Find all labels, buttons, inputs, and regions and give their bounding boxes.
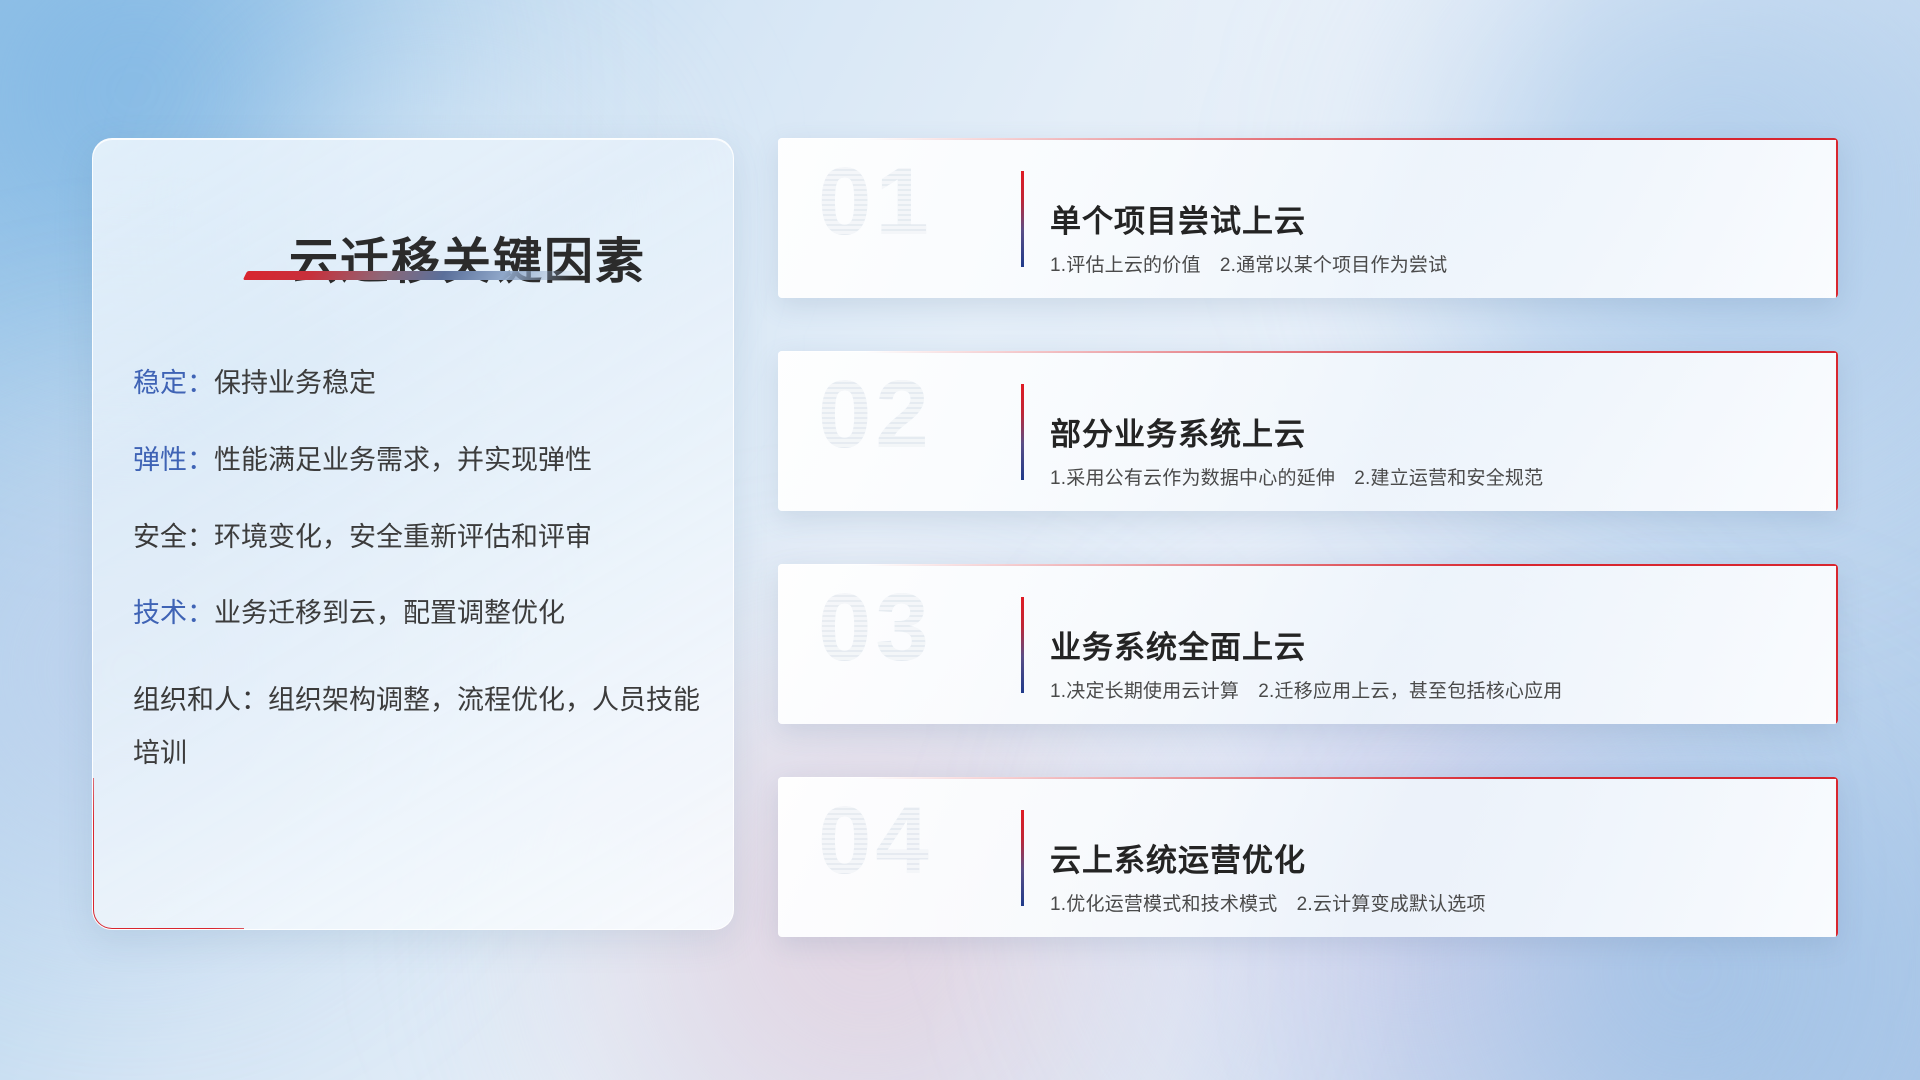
factor-value: 环境变化，安全重新评估和评审 bbox=[214, 522, 592, 552]
step-subtitle: 1.评估上云的价值 2.通常以某个项目作为尝试 bbox=[1050, 250, 1447, 277]
factor-value: 保持业务稳定 bbox=[214, 368, 376, 398]
factor-item: 技术：业务迁移到云，配置调整优化 bbox=[133, 597, 703, 631]
page-title: 云迁移关键因素 bbox=[289, 222, 646, 293]
key-factors-list: 稳定：保持业务稳定 弹性：性能满足业务需求，并实现弹性 安全：环境变化，安全重新… bbox=[133, 367, 703, 779]
factor-item: 弹性：性能满足业务需求，并实现弹性 bbox=[133, 444, 703, 478]
factor-label: 组织和人： bbox=[133, 685, 268, 715]
factor-item: 组织和人：组织架构调整，流程优化，人员技能培训 bbox=[133, 674, 703, 779]
factor-value: 性能满足业务需求，并实现弹性 bbox=[214, 445, 592, 475]
factor-label: 技术： bbox=[133, 598, 214, 628]
migration-steps-list: 01 01 单个项目尝试上云 1.评估上云的价值 2.通常以某个项目作为尝试 0… bbox=[778, 138, 1838, 937]
step-number: 02 bbox=[818, 367, 933, 463]
step-title: 业务系统全面上云 bbox=[1050, 622, 1306, 667]
factor-label: 安全： bbox=[133, 522, 214, 552]
key-factors-card: 云迁移关键因素 稳定：保持业务稳定 弹性：性能满足业务需求，并实现弹性 安全：环… bbox=[92, 138, 734, 930]
step-divider-bar bbox=[1021, 810, 1024, 906]
factor-label: 弹性： bbox=[133, 445, 214, 475]
step-subtitle: 1.采用公有云作为数据中心的延伸 2.建立运营和安全规范 bbox=[1050, 463, 1543, 490]
factor-item: 稳定：保持业务稳定 bbox=[133, 367, 703, 401]
step-title: 单个项目尝试上云 bbox=[1050, 196, 1306, 241]
factor-label: 稳定： bbox=[133, 368, 214, 398]
factor-item: 安全：环境变化，安全重新评估和评审 bbox=[133, 521, 703, 555]
step-subtitle: 1.优化运营模式和技术模式 2.云计算变成默认选项 bbox=[1050, 889, 1486, 916]
step-divider-bar bbox=[1021, 597, 1024, 693]
step-card-04[interactable]: 04 04 云上系统运营优化 1.优化运营模式和技术模式 2.云计算变成默认选项 bbox=[778, 777, 1838, 937]
step-number: 01 bbox=[818, 154, 933, 250]
title-underline-accent bbox=[243, 271, 577, 280]
step-divider-bar bbox=[1021, 171, 1024, 267]
step-card-01[interactable]: 01 01 单个项目尝试上云 1.评估上云的价值 2.通常以某个项目作为尝试 bbox=[778, 138, 1838, 298]
step-card-03[interactable]: 03 03 业务系统全面上云 1.决定长期使用云计算 2.迁移应用上云，甚至包括… bbox=[778, 564, 1838, 724]
step-card-02[interactable]: 02 02 部分业务系统上云 1.采用公有云作为数据中心的延伸 2.建立运营和安… bbox=[778, 351, 1838, 511]
slide-stage: 云迁移关键因素 稳定：保持业务稳定 弹性：性能满足业务需求，并实现弹性 安全：环… bbox=[0, 0, 1920, 1080]
step-number: 03 bbox=[818, 580, 933, 676]
step-divider-bar bbox=[1021, 384, 1024, 480]
step-subtitle: 1.决定长期使用云计算 2.迁移应用上云，甚至包括核心应用 bbox=[1050, 676, 1563, 703]
step-number: 04 bbox=[818, 793, 933, 889]
step-title: 部分业务系统上云 bbox=[1050, 409, 1306, 454]
step-title: 云上系统运营优化 bbox=[1050, 835, 1306, 880]
factor-value: 业务迁移到云，配置调整优化 bbox=[214, 598, 565, 628]
